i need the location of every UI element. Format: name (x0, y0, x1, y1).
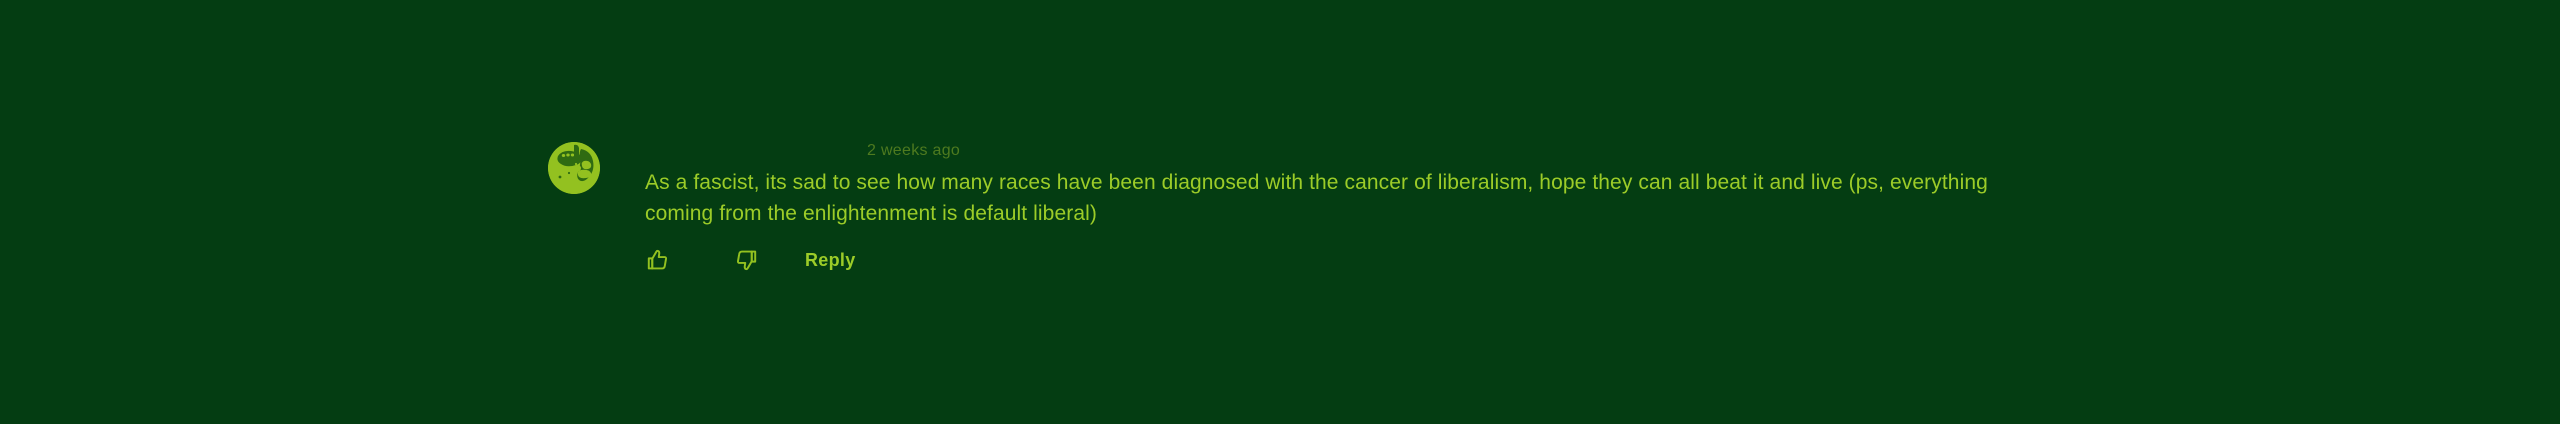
comment-author-name[interactable] (645, 142, 867, 160)
reply-button[interactable]: Reply (805, 250, 856, 271)
dislike-button[interactable] (733, 247, 759, 273)
thumbs-up-icon (645, 247, 671, 273)
avatar-container[interactable] (548, 142, 600, 194)
action-spacer-2 (759, 260, 805, 261)
comment-page: 2 weeks ago As a fascist, its sad to see… (0, 0, 2560, 424)
comment-meta: 2 weeks ago (645, 140, 2035, 162)
comment-main: 2 weeks ago As a fascist, its sad to see… (645, 140, 2035, 277)
like-button[interactable] (645, 247, 671, 273)
comment-actions: Reply (645, 243, 2035, 277)
action-spacer-1 (699, 260, 733, 261)
user-avatar-icon[interactable] (548, 142, 600, 194)
comment-body: As a fascist, its sad to see how many ra… (645, 167, 2035, 229)
comment-body-line-1: As a fascist, its sad to see how many ra… (645, 171, 1884, 194)
comment-timestamp[interactable]: 2 weeks ago (867, 142, 960, 160)
thumbs-down-icon (733, 247, 759, 273)
comment-item: 2 weeks ago As a fascist, its sad to see… (548, 140, 2035, 277)
